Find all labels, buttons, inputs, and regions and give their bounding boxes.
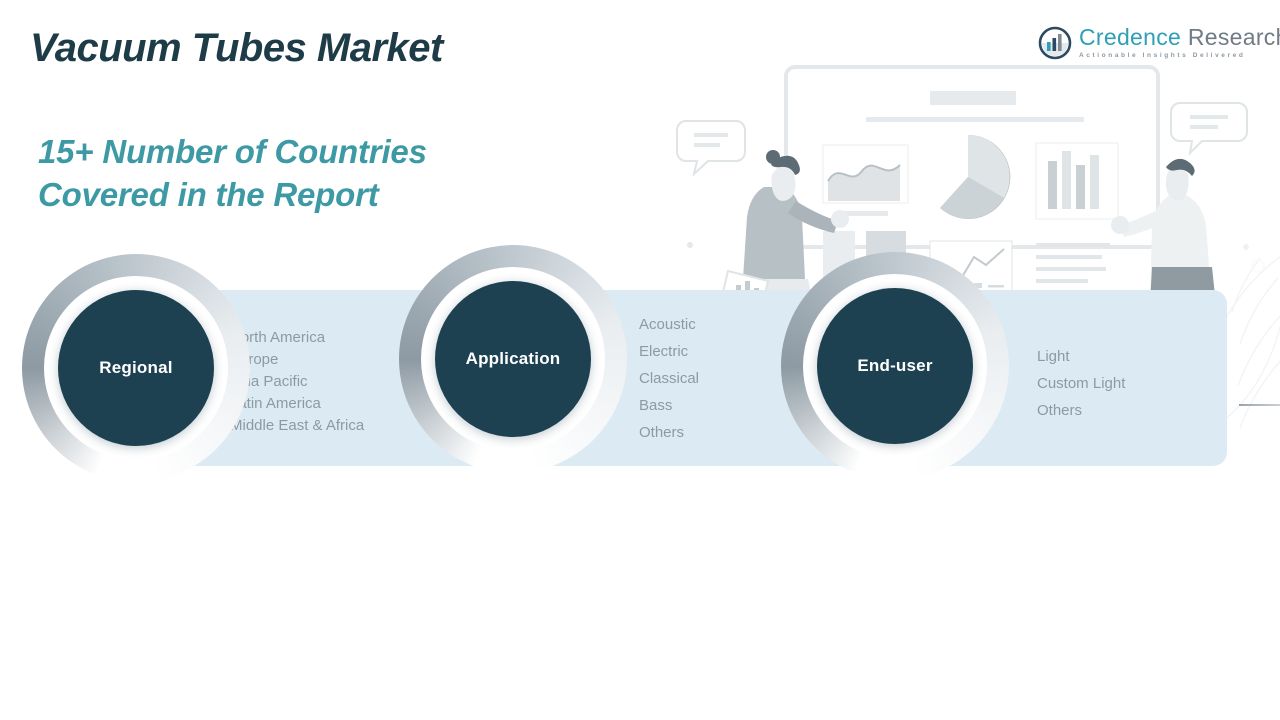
segment-label-regional: Regional: [99, 358, 172, 378]
logo-name-credence: Credence: [1079, 24, 1181, 50]
node-disc[interactable]: End-user: [817, 288, 973, 444]
node-disc[interactable]: Application: [435, 281, 591, 437]
segment-label-end-user: End-user: [857, 356, 932, 376]
right-divider-rule: [1239, 404, 1280, 406]
segment-list-application: Acoustic Electric Classical Bass Others: [639, 311, 699, 446]
logo-name-research: Research: [1188, 24, 1280, 50]
segment-label-application: Application: [466, 349, 561, 369]
node-disc[interactable]: Regional: [58, 290, 214, 446]
page-subtitle: 15+ Number of Countries Covered in the R…: [38, 130, 427, 216]
slide-canvas: Vacuum Tubes Market 15+ Number of Countr…: [0, 0, 1280, 720]
logo-company-name: Credence Research: [1079, 26, 1280, 49]
segment-node-regional[interactable]: Regional: [22, 254, 250, 482]
segment-node-application[interactable]: Application: [399, 245, 627, 473]
segment-node-end-user[interactable]: End-user: [781, 252, 1009, 480]
segment-list-end-user: Light Custom Light Others: [1037, 343, 1125, 424]
page-title: Vacuum Tubes Market: [30, 26, 443, 71]
segment-list-regional: North America Europe Asia Pacific Latin …: [230, 327, 364, 437]
